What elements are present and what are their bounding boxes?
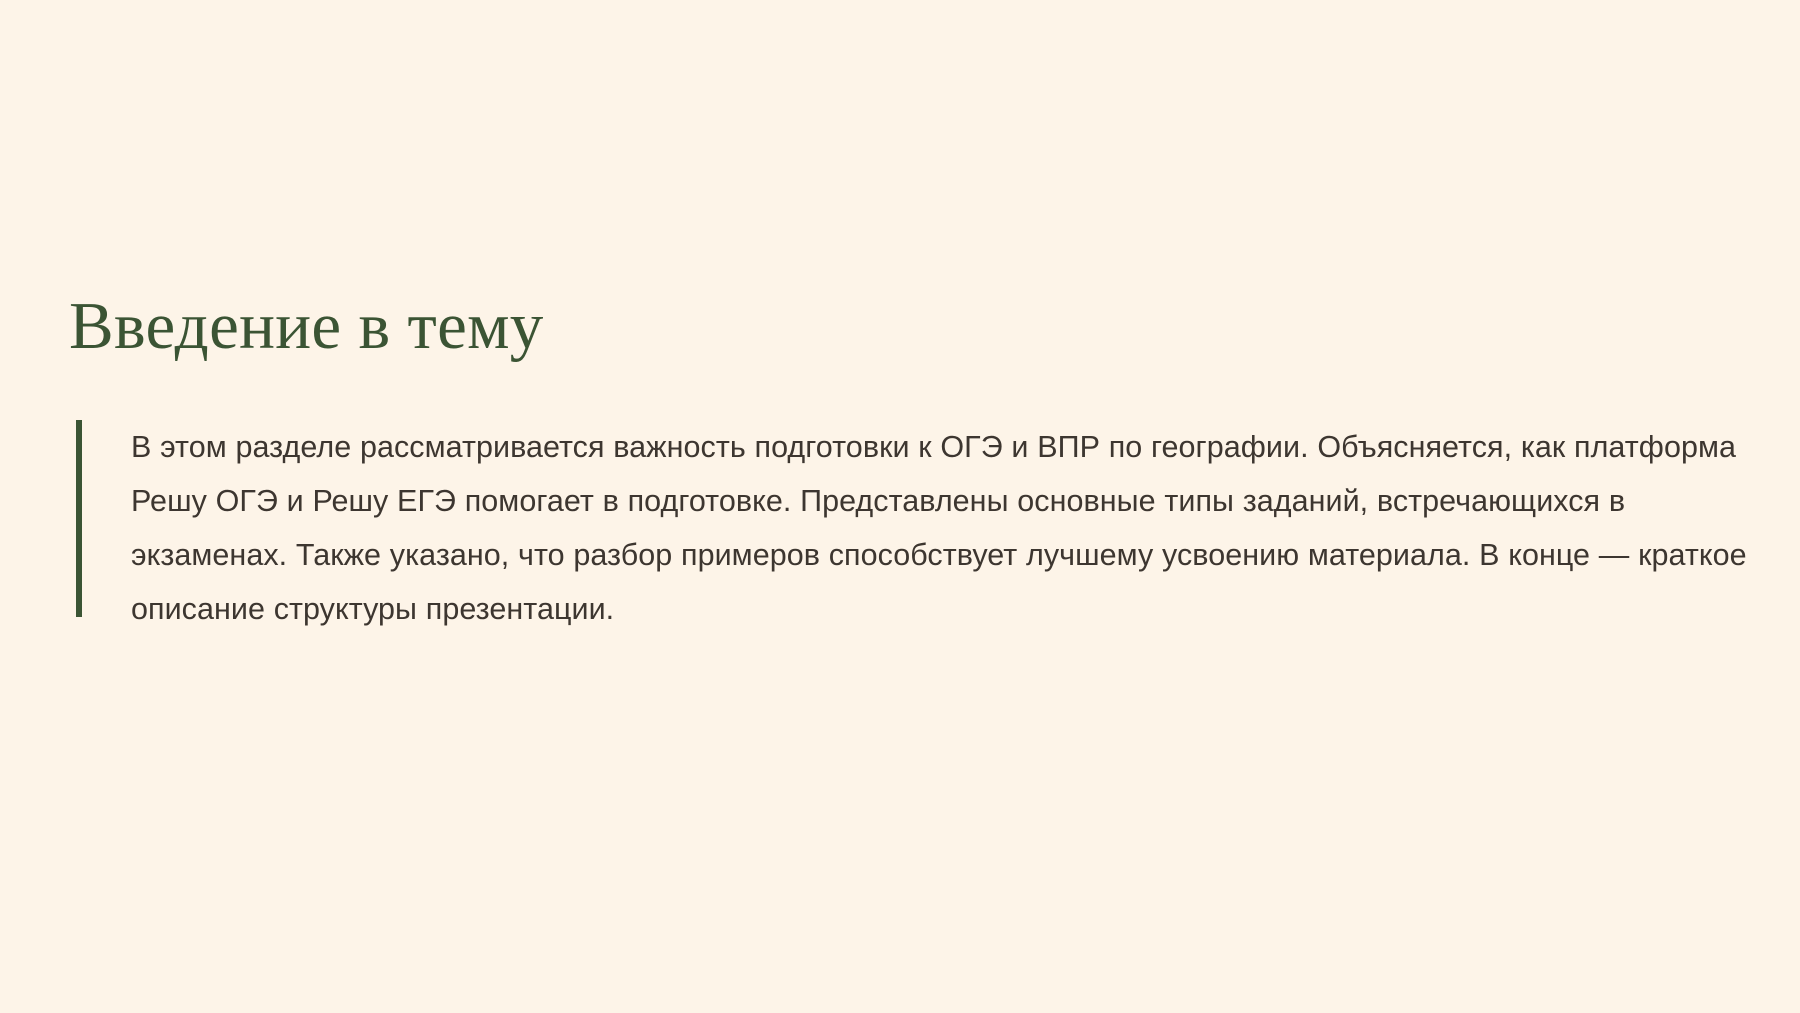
slide-content: Введение в тему В этом разделе рассматри… bbox=[68, 290, 1758, 636]
body-callout: В этом разделе рассматривается важность … bbox=[68, 420, 1758, 636]
body-paragraph: В этом разделе рассматривается важность … bbox=[131, 420, 1756, 636]
slide-canvas: Введение в тему В этом разделе рассматри… bbox=[0, 0, 1800, 1013]
accent-bar bbox=[76, 420, 82, 617]
page-title: Введение в тему bbox=[68, 290, 1758, 362]
